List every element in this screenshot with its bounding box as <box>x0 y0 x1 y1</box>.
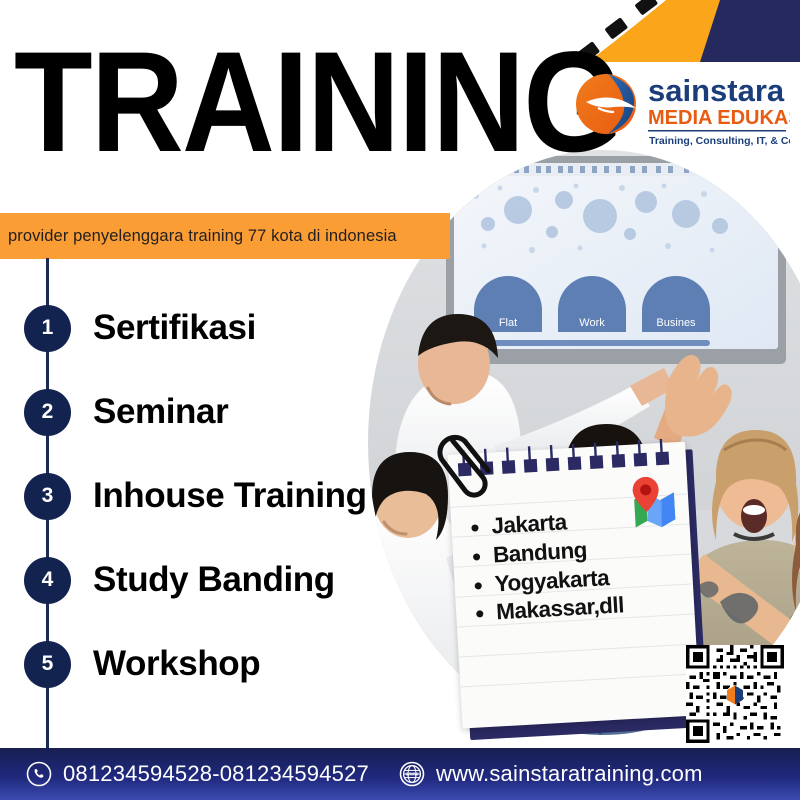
sainstara-logo-icon: sainstara MEDIA EDUKASI Training, Consul… <box>572 62 790 156</box>
svg-text:Busines: Busines <box>656 317 696 329</box>
svg-text:www: www <box>405 772 419 778</box>
flyer-canvas: { "brand": { "accent_orange": "#F99D34",… <box>0 0 800 800</box>
company-logo[interactable]: sainstara MEDIA EDUKASI Training, Consul… <box>572 62 790 161</box>
service-item-workshop[interactable]: 5 Workshop <box>0 636 260 692</box>
tagline-text: provider penyelenggara training 77 kota … <box>0 227 397 246</box>
globe-www-icon: www <box>399 761 425 787</box>
qr-code-icon <box>686 645 784 743</box>
cities-list: Jakarta Bandung Yogyakarta Makassar,dll <box>469 505 625 628</box>
footer-phone[interactable]: 081234594528-081234594527 <box>26 761 369 787</box>
service-label: Inhouse Training <box>93 476 367 516</box>
svg-text:Work: Work <box>579 317 605 329</box>
services-timeline: 1 Sertifikasi 2 Seminar 3 Inhouse Traini… <box>0 258 420 758</box>
phone-icon <box>26 761 52 787</box>
svg-text:Flat: Flat <box>499 317 517 329</box>
service-item-sertifikasi[interactable]: 1 Sertifikasi <box>0 300 256 356</box>
service-number-badge: 1 <box>24 305 71 352</box>
service-label: Workshop <box>93 644 260 684</box>
logo-subtitle: MEDIA EDUKASI <box>648 107 790 129</box>
logo-tagline: Training, Consulting, IT, & Certificatio… <box>649 135 790 147</box>
tagline-banner: provider penyelenggara training 77 kota … <box>0 213 450 259</box>
service-item-seminar[interactable]: 2 Seminar <box>0 384 228 440</box>
qr-code[interactable] <box>686 645 784 743</box>
phone-number: 081234594528-081234594527 <box>63 761 369 787</box>
cities-notepad: Jakarta Bandung Yogyakarta Makassar,dll <box>447 442 702 735</box>
logo-wordmark: sainstara <box>648 73 785 108</box>
website-url: www.sainstaratraining.com <box>436 761 703 787</box>
footer-website[interactable]: www www.sainstaratraining.com <box>399 761 703 787</box>
page-title: TRAINING <box>14 36 622 170</box>
service-number-badge: 5 <box>24 641 71 688</box>
service-number-badge: 2 <box>24 389 71 436</box>
service-number-badge: 3 <box>24 473 71 520</box>
service-item-study-banding[interactable]: 4 Study Banding <box>0 552 335 608</box>
service-number-badge: 4 <box>24 557 71 604</box>
service-label: Sertifikasi <box>93 308 256 348</box>
service-label: Seminar <box>93 392 228 432</box>
service-item-inhouse-training[interactable]: 3 Inhouse Training <box>0 468 367 524</box>
contact-footer: 081234594528-081234594527 www www.sainst… <box>0 748 800 800</box>
google-maps-icon <box>621 475 680 530</box>
paperclip-icon <box>434 430 499 519</box>
service-label: Study Banding <box>93 560 335 600</box>
